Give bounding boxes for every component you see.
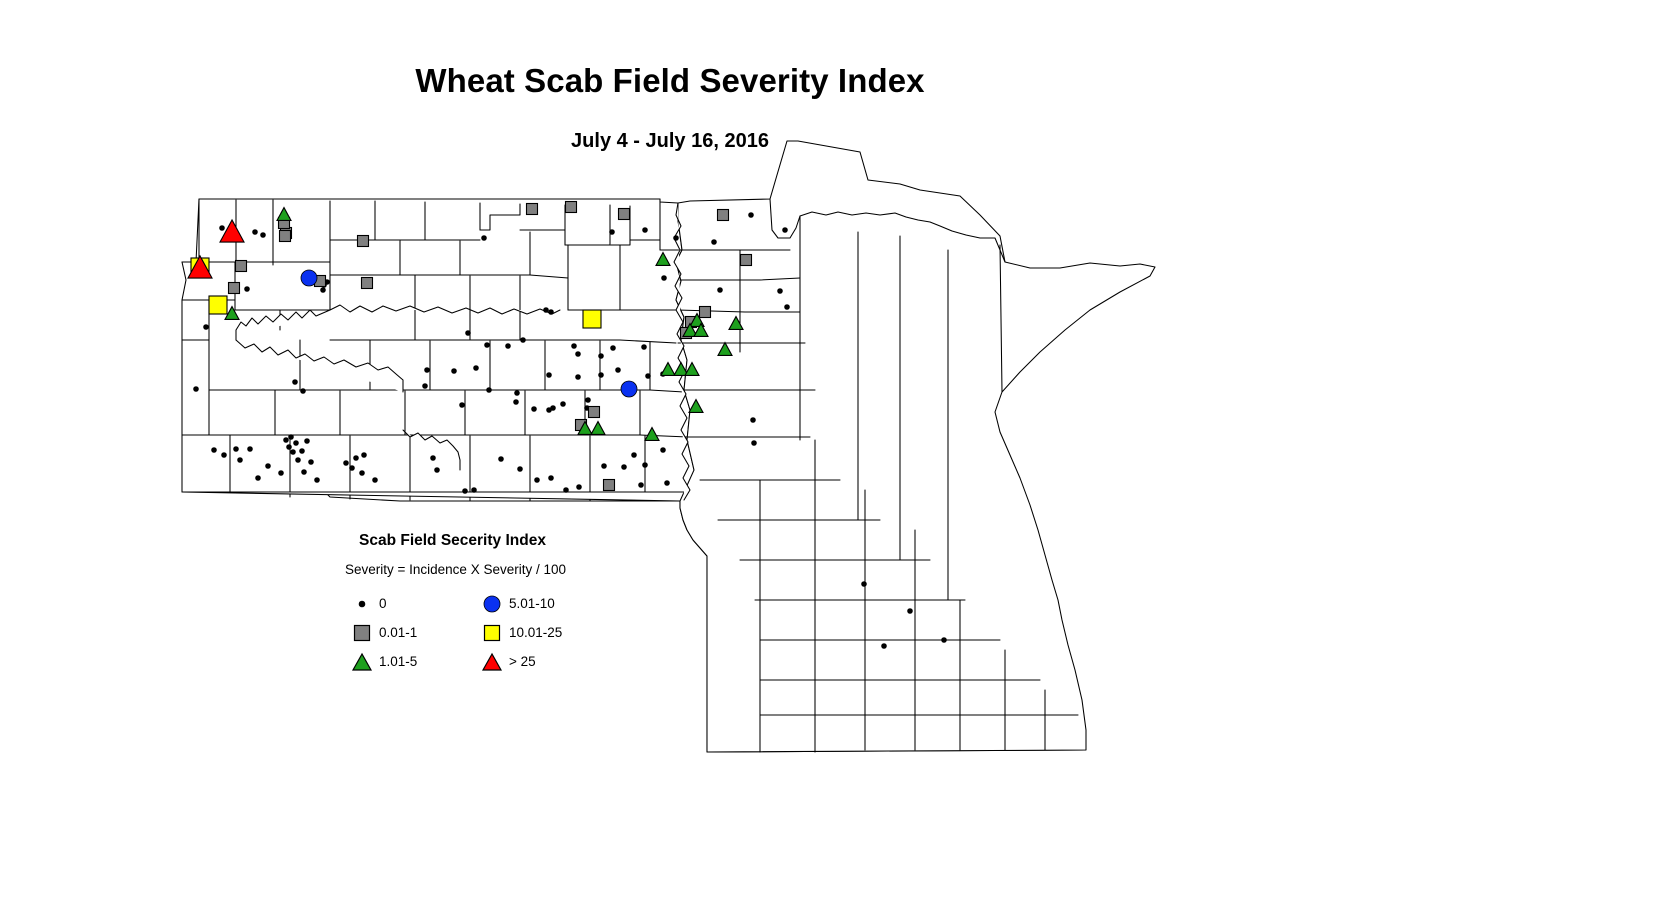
map-marker [229,283,240,294]
map-marker [602,464,607,469]
map-marker [564,488,569,493]
legend-rows: 05.01-100.01-110.01-251.01-5> 25 [345,589,675,676]
map-marker [309,460,314,465]
map-marker [611,346,616,351]
map-marker [576,375,581,380]
map-marker [238,458,243,463]
legend-item-5-01-10: 5.01-10 [475,594,605,614]
map-marker [482,236,487,241]
map-marker [908,609,913,614]
map-marker [463,489,468,494]
legend-item-10-01-25: 10.01-25 [475,623,605,643]
map-marker [289,435,294,440]
map-marker [616,368,621,373]
map-marker [373,478,378,483]
map-marker [544,308,549,313]
map-marker [204,325,209,330]
map-marker [646,374,651,379]
map-marker [360,471,365,476]
map-marker [302,470,307,475]
map-marker [236,261,247,272]
square-swatch-icon [475,623,509,643]
map-marker [431,456,436,461]
map-marker [515,391,520,396]
map-marker [700,307,711,318]
map-marker [506,344,511,349]
map-marker [296,458,301,463]
map-marker [315,478,320,483]
map-marker [532,407,537,412]
map-marker [643,228,648,233]
legend-item-label: 5.01-10 [509,596,555,611]
map-marker [245,287,250,292]
map-marker [549,310,554,315]
map-marker [301,270,317,286]
map-marker [639,483,644,488]
circle-swatch-icon [475,594,509,614]
map-marker [487,388,492,393]
triangle-swatch-icon [345,652,379,672]
map-marker [344,461,349,466]
map-marker [785,305,790,310]
map-marker [674,236,679,241]
map-marker [514,400,519,405]
legend-title: Scab Field Secerity Index [359,532,675,550]
map-marker [583,310,601,328]
legend-item-label: 0 [379,596,387,611]
map-marker [460,403,465,408]
map-marker [862,582,867,587]
map-marker [209,296,227,314]
map-marker [220,226,225,231]
map-marker [362,453,367,458]
map-marker [718,210,729,221]
map-marker [234,447,239,452]
legend-item-25: > 25 [475,652,605,672]
map-marker [549,476,554,481]
map-marker [599,354,604,359]
map-marker [577,485,582,490]
map-marker [576,352,581,357]
map-marker [194,387,199,392]
map-marker [466,331,471,336]
dot-swatch-icon [345,595,379,613]
map-marker [472,488,477,493]
map-marker [305,439,310,444]
map-marker [882,644,887,649]
map-marker [632,453,637,458]
map-marker [527,204,538,215]
map-marker [301,389,306,394]
map-marker [485,343,490,348]
map-marker [222,453,227,458]
map-marker [665,481,670,486]
legend: Scab Field Secerity Index Severity = Inc… [345,532,675,676]
map-marker [561,402,566,407]
map-marker [280,231,291,242]
map-marker [521,338,526,343]
legend-formula: Severity = Incidence X Severity / 100 [345,562,675,577]
map-marker [783,228,788,233]
map-marker [778,289,783,294]
map-marker [589,407,600,418]
map-marker [256,476,261,481]
legend-item-label: 1.01-5 [379,654,417,669]
map-marker [751,418,756,423]
map-marker [661,448,666,453]
map-marker [474,366,479,371]
legend-item-label: 10.01-25 [509,625,562,640]
map-marker [741,255,752,266]
map-marker [749,213,754,218]
map-marker [586,398,591,403]
map-marker [622,465,627,470]
map-marker [435,468,440,473]
map-marker [621,381,637,397]
map-marker [425,368,430,373]
map-marker [752,441,757,446]
map-marker [499,457,504,462]
map-marker [354,456,359,461]
map-marker [535,478,540,483]
map-marker [212,448,217,453]
map-page: Wheat Scab Field Severity Index July 4 -… [0,0,1673,900]
map-marker [287,445,292,450]
map-marker [610,230,615,235]
map-marker [518,467,523,472]
square-swatch-icon [345,623,379,643]
map-marker [642,345,647,350]
legend-item-0: 0 [345,595,475,613]
map-canvas [0,0,1673,900]
legend-item-label: 0.01-1 [379,625,417,640]
map-marker [293,380,298,385]
map-marker [599,373,604,378]
map-marker [547,373,552,378]
map-marker [942,638,947,643]
map-marker [572,344,577,349]
map-marker [566,202,577,213]
map-marker [452,369,457,374]
legend-item-1-01-5: 1.01-5 [345,652,475,672]
map-marker [643,463,648,468]
map-marker [551,406,556,411]
map-marker [350,466,355,471]
map-marker [261,233,266,238]
map-marker [362,278,373,289]
map-marker [662,276,667,281]
legend-item-0-01-1: 0.01-1 [345,623,475,643]
map-marker [266,464,271,469]
map-marker [321,288,326,293]
map-marker [423,384,428,389]
map-marker [300,449,305,454]
map-marker [248,447,253,452]
map-marker [279,471,284,476]
map-marker [284,438,289,443]
map-marker [712,240,717,245]
map-marker [358,236,369,247]
legend-item-label: > 25 [509,654,536,669]
map-marker [718,288,723,293]
map-marker [253,230,258,235]
map-marker [294,441,299,446]
map-marker [619,209,630,220]
map-marker [291,450,296,455]
triangle-swatch-icon [475,652,509,672]
map-marker [604,480,615,491]
